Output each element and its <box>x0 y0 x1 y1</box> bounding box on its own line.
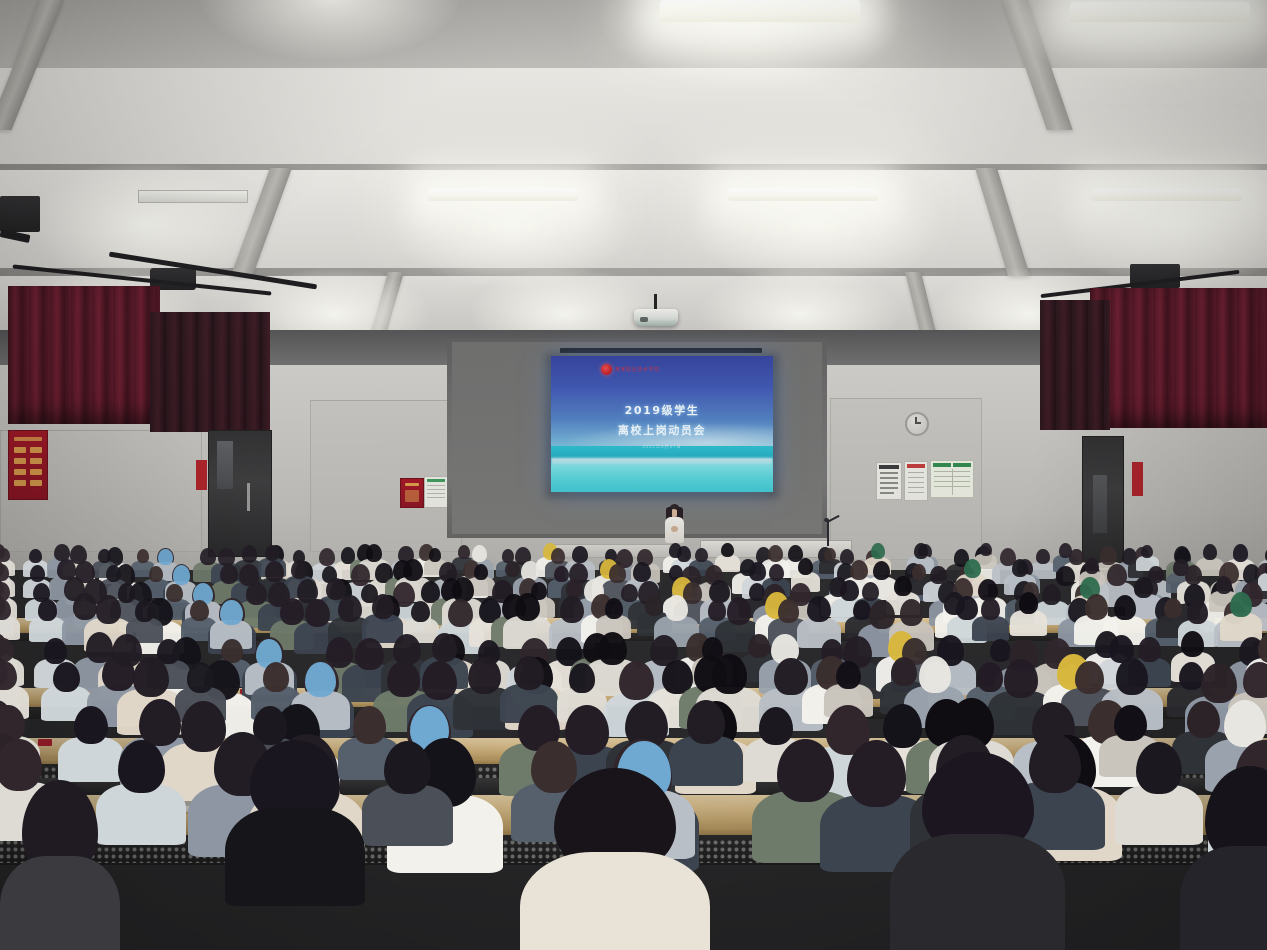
notice-board-red <box>904 461 928 501</box>
ceiling-light <box>428 188 578 201</box>
air-vent <box>138 190 248 203</box>
slide-title-line-2: 离校上岗动员会 <box>551 422 773 438</box>
audience-head <box>569 663 596 693</box>
audience-head <box>708 600 727 621</box>
audience-body <box>1180 846 1267 950</box>
audience-head <box>200 548 216 565</box>
audience-head <box>981 598 1000 620</box>
audience-head <box>871 543 886 559</box>
audience-head <box>220 600 242 625</box>
audience-head <box>355 638 384 670</box>
audience-head <box>1100 546 1117 565</box>
slide-logo: 某某职业技术学院 <box>601 364 660 375</box>
audience-body <box>225 807 365 906</box>
foreground-student-left <box>225 740 365 900</box>
audience-head <box>964 559 981 578</box>
slide-date: 2021年9月27日 <box>551 444 773 450</box>
foreground-student-right <box>890 752 1065 948</box>
audience-head <box>633 562 651 582</box>
audience-head <box>73 593 97 620</box>
audience-head <box>727 597 752 625</box>
audience: ITRTRZOD <box>0 540 1267 950</box>
audience-head <box>338 595 362 622</box>
projector-mount <box>654 294 657 310</box>
audience-head <box>1107 564 1127 586</box>
audience-head <box>1116 658 1149 694</box>
audience-head <box>319 548 335 566</box>
audience-head <box>280 598 304 624</box>
audience-head <box>1114 705 1147 742</box>
audience-head <box>554 566 569 582</box>
audience-body <box>58 737 124 782</box>
slide-title-line-1: 2019级学生 <box>551 402 773 418</box>
wall-poster-red <box>400 478 424 508</box>
audience-head <box>429 548 441 562</box>
audience-head <box>712 654 747 693</box>
audience-head <box>149 566 164 582</box>
audience-head <box>748 634 770 658</box>
audience-head <box>515 593 540 621</box>
audience-head <box>505 561 519 577</box>
audience-head <box>900 599 924 625</box>
audience-head <box>1075 661 1105 694</box>
audience-head <box>1042 584 1061 605</box>
audience-head <box>768 545 783 562</box>
audience-head <box>1004 659 1038 697</box>
audience-head <box>1243 662 1267 699</box>
audience-head <box>0 548 10 562</box>
audience-head <box>29 549 42 564</box>
presenter-hands <box>671 526 678 532</box>
foreground-student-edge-right <box>1180 766 1267 950</box>
audience-head <box>1138 637 1161 662</box>
audience-head <box>1203 544 1218 560</box>
foreground-student-center <box>520 768 710 950</box>
audience-head <box>677 546 691 562</box>
audience-head <box>721 543 734 558</box>
slide-shallow-water <box>551 465 773 492</box>
audience-head <box>246 582 267 605</box>
audience-head <box>1085 594 1108 620</box>
audience-head <box>551 548 565 564</box>
projection-screen: 某某职业技术学院 2019级学生 离校上岗动员会 2021年9月27日 <box>551 356 773 492</box>
audience-head <box>118 583 135 603</box>
audience-head <box>566 579 583 597</box>
slide-logo-text: 某某职业技术学院 <box>615 366 660 373</box>
screen-roller <box>560 348 762 353</box>
audience-head <box>263 662 289 691</box>
audience-head <box>187 662 214 693</box>
audience-head <box>190 600 209 621</box>
audience-body <box>0 856 120 950</box>
audience-head <box>133 657 169 697</box>
audience-head <box>387 661 420 698</box>
audience-head <box>645 595 664 616</box>
audience-head <box>220 564 238 584</box>
ceiling-light <box>660 0 860 22</box>
audience-head <box>403 559 423 581</box>
wall-poster-white <box>424 476 448 508</box>
exit-sign-right <box>1132 462 1143 496</box>
notice-board-dark <box>876 462 902 500</box>
audience-head <box>474 564 488 580</box>
audience-head <box>1230 592 1252 617</box>
audience-head <box>609 564 626 583</box>
audience-head <box>1012 559 1029 578</box>
audience-head <box>850 560 868 580</box>
audience-head <box>1187 701 1220 738</box>
audience-head <box>38 599 58 621</box>
wall-clock-icon <box>905 412 929 436</box>
audience-head <box>565 705 609 755</box>
exit-sign-left <box>196 460 207 490</box>
audience-head <box>139 699 181 746</box>
audience-head <box>44 638 67 663</box>
audience-head <box>769 564 784 581</box>
ceiling-band-2 <box>0 68 1267 166</box>
audience-head <box>1069 549 1084 566</box>
wall-poster-values <box>8 430 48 500</box>
audience-body <box>520 852 710 950</box>
audience-head <box>572 546 587 563</box>
audience-head <box>774 658 808 696</box>
audience-head <box>372 594 394 619</box>
audience-head <box>1085 558 1099 574</box>
audience-head <box>422 661 457 700</box>
audience-head <box>619 661 654 700</box>
audience-head <box>687 700 726 744</box>
audience-head <box>448 599 473 627</box>
stage-curtain-left <box>8 286 160 424</box>
audience-head <box>166 584 183 603</box>
audience-head <box>824 548 836 562</box>
audience-head <box>468 657 501 694</box>
audience-head <box>265 561 284 582</box>
speaker-box <box>0 196 40 232</box>
audience-head <box>621 584 638 603</box>
audience-head <box>798 558 813 575</box>
door-left[interactable] <box>208 430 272 557</box>
audience-head <box>432 633 458 662</box>
audience-head <box>891 657 917 686</box>
audience-head <box>102 655 135 692</box>
audience-body <box>890 834 1065 950</box>
audience-head <box>862 582 879 601</box>
audience-head <box>1036 549 1050 564</box>
audience-head <box>1187 600 1208 624</box>
audience-head <box>914 543 928 559</box>
audience-head <box>1185 565 1203 585</box>
audience-head <box>1056 566 1075 587</box>
audience-head <box>98 549 111 564</box>
stage-curtain-right-dark <box>1040 300 1110 430</box>
audience-head <box>840 580 859 601</box>
door-glass <box>1093 475 1107 533</box>
ceiling-light <box>1092 188 1242 201</box>
audience-head <box>777 739 834 802</box>
stage-curtain-left-dark <box>150 312 270 432</box>
audience-head <box>0 564 9 581</box>
audience-head <box>53 662 80 692</box>
audience-head <box>265 545 280 561</box>
audience-head <box>366 544 383 563</box>
audience-head <box>1019 592 1039 614</box>
audience-head <box>351 564 370 586</box>
audience-head <box>1233 544 1249 562</box>
ceiling-light <box>1070 2 1250 22</box>
audience-head <box>598 632 627 665</box>
audience-head <box>980 543 992 557</box>
audience-head <box>778 599 799 623</box>
audience-head <box>458 545 470 559</box>
audience-head <box>1201 663 1237 703</box>
audience-head <box>807 596 831 622</box>
audience-head <box>118 740 165 793</box>
audience-head <box>919 656 952 693</box>
door-glass <box>217 441 233 489</box>
audience-head <box>956 596 978 620</box>
audience-head <box>158 549 173 565</box>
audience-head <box>353 706 387 744</box>
audience-head <box>605 598 624 619</box>
audience-head <box>759 707 793 745</box>
audience-head <box>305 662 336 696</box>
audience-head <box>291 560 308 579</box>
audience-head <box>1141 545 1153 559</box>
audience-head <box>1179 662 1204 690</box>
stage-curtain-right <box>1090 288 1267 428</box>
audience-head <box>1164 598 1182 618</box>
audience-head <box>894 576 912 596</box>
audience-head <box>242 545 258 563</box>
audience-head <box>173 565 190 584</box>
audience-head <box>106 565 121 582</box>
audience-head <box>1216 576 1232 594</box>
audience-head <box>749 562 766 581</box>
audience-head <box>873 561 891 581</box>
audience-head <box>912 564 926 580</box>
audience-head <box>836 661 862 690</box>
audience-head <box>1134 577 1153 599</box>
seat-number-sticker <box>38 739 52 746</box>
door-handle[interactable] <box>247 483 250 511</box>
foreground-student-edge-left <box>0 780 120 950</box>
audience-head <box>137 549 150 563</box>
audience-head <box>30 565 45 582</box>
audience-head <box>990 639 1011 663</box>
projector-lens <box>640 317 648 322</box>
audience-head <box>695 548 708 562</box>
lecture-hall-photo: 某某职业技术学院 2019级学生 离校上岗动员会 2021年9月27日 <box>0 0 1267 950</box>
audience-head <box>977 662 1003 691</box>
audience-head <box>135 600 155 622</box>
ceiling-light <box>728 188 878 201</box>
university-emblem-icon <box>601 364 612 375</box>
ceiling-band-3 <box>0 170 1267 270</box>
notice-board-green <box>930 460 974 498</box>
audience-head <box>514 656 545 690</box>
